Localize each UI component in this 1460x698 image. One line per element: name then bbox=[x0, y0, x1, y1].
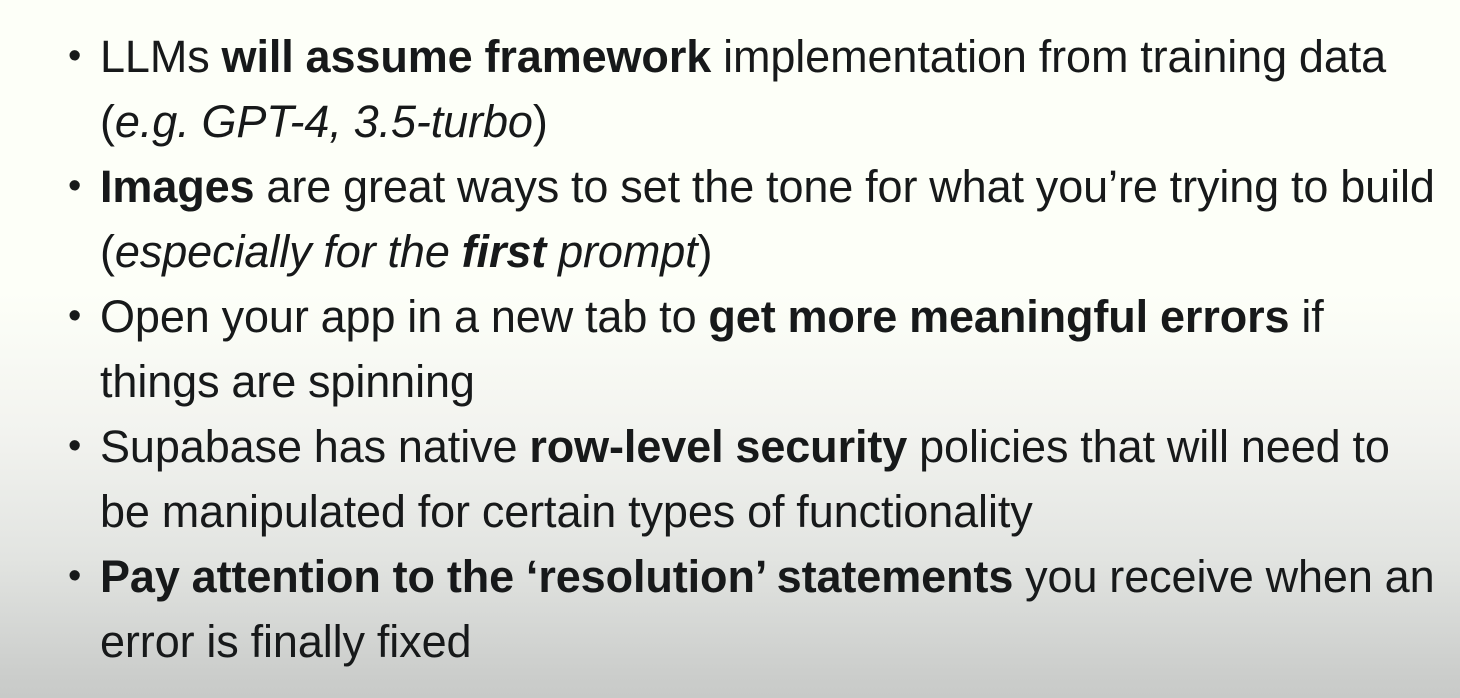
bullet-point-icon: • bbox=[68, 154, 100, 219]
bullet-text: Images are great ways to set the tone fo… bbox=[100, 154, 1440, 284]
bullet-point-icon: • bbox=[68, 284, 100, 349]
bullet-text: Pay attention to the ‘resolution’ statem… bbox=[100, 544, 1440, 674]
text-run: prompt bbox=[546, 226, 697, 277]
bullet-text: Open your app in a new tab to get more m… bbox=[100, 284, 1440, 414]
bullet-item-images-set-tone: •Images are great ways to set the tone f… bbox=[68, 154, 1440, 284]
text-run: Pay attention to the ‘resolution’ statem… bbox=[100, 551, 1013, 602]
bullet-point-icon: • bbox=[68, 544, 100, 609]
slide-canvas: •LLMs will assume framework implementati… bbox=[0, 0, 1460, 698]
bullet-item-llms-assume-framework: •LLMs will assume framework implementati… bbox=[68, 24, 1440, 154]
text-run: Supabase has native bbox=[100, 421, 529, 472]
bullet-item-resolution-statements: •Pay attention to the ‘resolution’ state… bbox=[68, 544, 1440, 674]
bullet-list: •LLMs will assume framework implementati… bbox=[0, 0, 1460, 674]
text-run: e.g. GPT-4, 3.5-turbo bbox=[115, 96, 533, 147]
text-run: get more meaningful errors bbox=[708, 291, 1289, 342]
bullet-item-supabase-row-level-security: •Supabase has native row-level security … bbox=[68, 414, 1440, 544]
bullet-item-open-app-new-tab: •Open your app in a new tab to get more … bbox=[68, 284, 1440, 414]
text-run: ) bbox=[533, 96, 548, 147]
text-run: Open your app in a new tab to bbox=[100, 291, 708, 342]
bullet-text: Supabase has native row-level security p… bbox=[100, 414, 1440, 544]
text-run: first bbox=[462, 226, 547, 277]
bullet-point-icon: • bbox=[68, 414, 100, 479]
text-run: ) bbox=[698, 226, 713, 277]
text-run: especially for the bbox=[115, 226, 462, 277]
text-run: LLMs bbox=[100, 31, 222, 82]
text-run: will assume framework bbox=[222, 31, 712, 82]
text-run: Images bbox=[100, 161, 254, 212]
bullet-point-icon: • bbox=[68, 24, 100, 89]
text-run: row-level security bbox=[529, 421, 907, 472]
bullet-text: LLMs will assume framework implementatio… bbox=[100, 24, 1440, 154]
